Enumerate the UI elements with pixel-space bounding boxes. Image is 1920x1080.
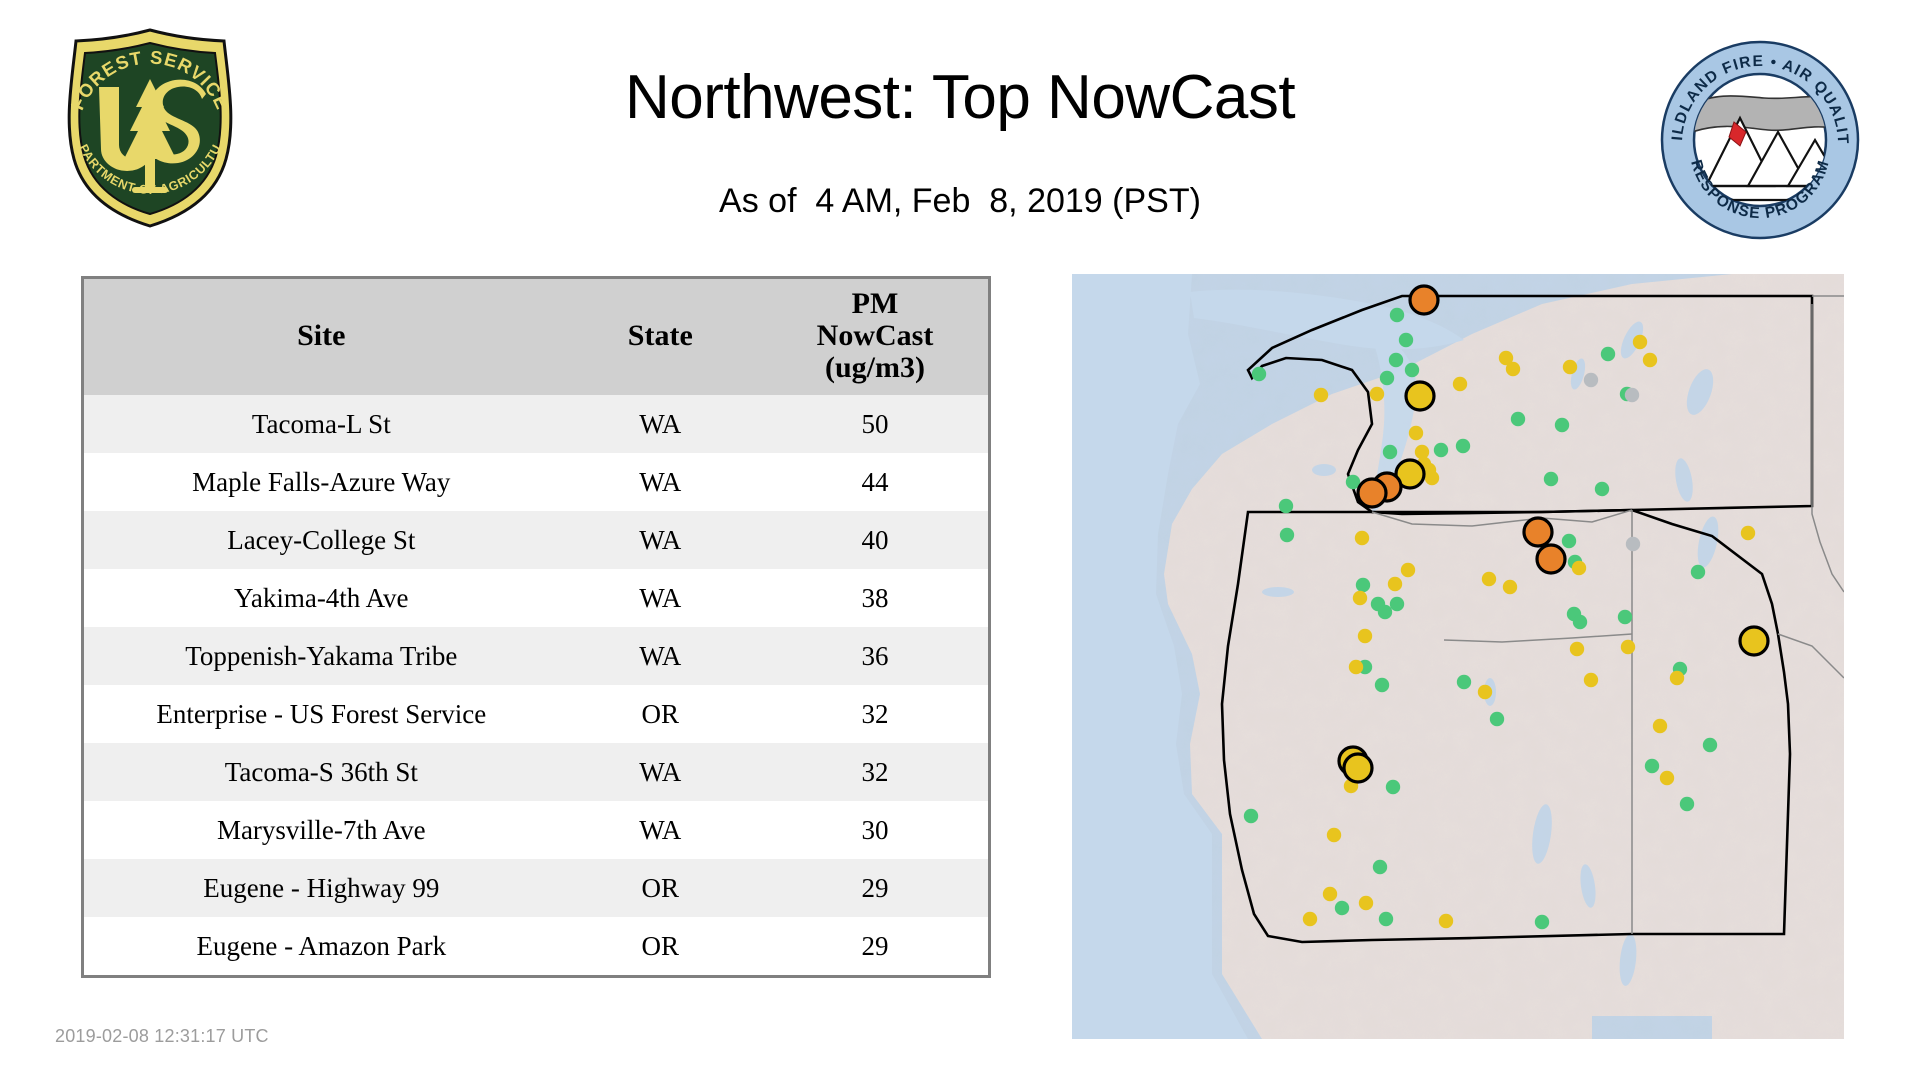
cell-state: WA bbox=[559, 569, 762, 627]
map-monitor-marker[interactable] bbox=[1490, 712, 1504, 726]
map-monitor-marker[interactable] bbox=[1478, 685, 1492, 699]
map-monitor-marker[interactable] bbox=[1353, 591, 1367, 605]
map-monitor-marker[interactable] bbox=[1378, 605, 1392, 619]
map-monitor-marker[interactable] bbox=[1323, 887, 1337, 901]
map-monitor-marker[interactable] bbox=[1389, 353, 1403, 367]
map-monitor-marker[interactable] bbox=[1280, 528, 1294, 542]
cell-site: Yakima-4th Ave bbox=[84, 569, 559, 627]
map-monitor-marker[interactable] bbox=[1511, 412, 1525, 426]
cell-state: WA bbox=[559, 453, 762, 511]
map-canvas: Maple Falls-Azure WayMarysville-7th AveT… bbox=[1072, 274, 1844, 1039]
map-monitor-marker[interactable] bbox=[1691, 565, 1705, 579]
map-monitor-marker[interactable] bbox=[1456, 439, 1470, 453]
table-row: Eugene - Highway 99OR29 bbox=[84, 859, 988, 917]
cell-state: WA bbox=[559, 395, 762, 453]
table-row: Tacoma-L StWA50 bbox=[84, 395, 988, 453]
map-monitor-marker[interactable] bbox=[1625, 388, 1639, 402]
map-monitor-marker[interactable] bbox=[1555, 418, 1569, 432]
map-monitor-marker[interactable] bbox=[1383, 445, 1397, 459]
table-row: Eugene - Amazon ParkOR29 bbox=[84, 917, 988, 975]
map-top-site-marker[interactable]: Enterprise - US Forest Service bbox=[1740, 627, 1768, 655]
table-header: Site State PM NowCast (ug/m3) bbox=[84, 279, 988, 395]
table-row: Maple Falls-Azure WayWA44 bbox=[84, 453, 988, 511]
table-header-row: Site State PM NowCast (ug/m3) bbox=[84, 279, 988, 395]
map-monitor-marker[interactable] bbox=[1633, 335, 1647, 349]
column-header-site: Site bbox=[84, 279, 559, 395]
map-monitor-marker[interactable] bbox=[1388, 577, 1402, 591]
map-monitor-marker[interactable] bbox=[1379, 912, 1393, 926]
map-monitor-marker[interactable] bbox=[1356, 578, 1370, 592]
cell-pm-nowcast: 50 bbox=[762, 395, 988, 453]
map-monitor-marker[interactable] bbox=[1595, 482, 1609, 496]
pm-header-line-3: (ug/m3) bbox=[762, 352, 988, 384]
cell-site: Maple Falls-Azure Way bbox=[84, 453, 559, 511]
map-monitor-marker[interactable] bbox=[1252, 367, 1266, 381]
map-monitor-marker[interactable] bbox=[1584, 673, 1598, 687]
cell-site: Toppenish-Yakama Tribe bbox=[84, 627, 559, 685]
table-row: Enterprise - US Forest ServiceOR32 bbox=[84, 685, 988, 743]
map-monitor-marker[interactable] bbox=[1535, 915, 1549, 929]
map-top-site-marker[interactable]: Marysville-7th Ave bbox=[1406, 382, 1434, 410]
cell-site: Tacoma-L St bbox=[84, 395, 559, 453]
map-monitor-marker[interactable] bbox=[1335, 901, 1349, 915]
nowcast-table-container: Site State PM NowCast (ug/m3) Tacoma-L S… bbox=[81, 276, 991, 978]
map-monitor-marker[interactable] bbox=[1401, 563, 1415, 577]
map-monitor-marker[interactable] bbox=[1390, 597, 1404, 611]
map-monitor-marker[interactable] bbox=[1380, 371, 1394, 385]
cell-site: Eugene - Highway 99 bbox=[84, 859, 559, 917]
nowcast-table: Site State PM NowCast (ug/m3) Tacoma-L S… bbox=[84, 279, 988, 975]
column-header-pm-nowcast: PM NowCast (ug/m3) bbox=[762, 279, 988, 395]
map-monitor-marker[interactable] bbox=[1279, 499, 1293, 513]
map-monitor-marker[interactable] bbox=[1626, 537, 1640, 551]
column-header-state: State bbox=[559, 279, 762, 395]
map-monitor-marker[interactable] bbox=[1358, 629, 1372, 643]
map-monitor-marker[interactable] bbox=[1506, 362, 1520, 376]
map-monitor-marker[interactable] bbox=[1370, 387, 1384, 401]
cell-pm-nowcast: 38 bbox=[762, 569, 988, 627]
wfaqrp-logo: WILDLAND FIRE • AIR QUALITY RESPONSE PRO… bbox=[1660, 40, 1860, 240]
cell-site: Marysville-7th Ave bbox=[84, 801, 559, 859]
map-monitor-marker[interactable] bbox=[1327, 828, 1341, 842]
map-monitor-marker[interactable] bbox=[1386, 780, 1400, 794]
map-monitor-marker[interactable] bbox=[1741, 526, 1755, 540]
cell-pm-nowcast: 29 bbox=[762, 859, 988, 917]
map-monitor-marker[interactable] bbox=[1645, 759, 1659, 773]
map-top-site-marker[interactable]: Toppenish-Yakama Tribe bbox=[1537, 545, 1565, 573]
map-monitor-marker[interactable] bbox=[1359, 896, 1373, 910]
page-subtitle: As of 4 AM, Feb 8, 2019 (PST) bbox=[460, 182, 1460, 221]
map-monitor-marker[interactable] bbox=[1399, 333, 1413, 347]
map-monitor-marker[interactable] bbox=[1703, 738, 1717, 752]
slide-root: FOREST SERVICE DEPARTMENT OF AGRICULTURE… bbox=[0, 0, 1920, 1080]
map-monitor-marker[interactable] bbox=[1621, 640, 1635, 654]
map-monitor-marker[interactable] bbox=[1409, 426, 1423, 440]
map-monitor-marker[interactable] bbox=[1434, 443, 1448, 457]
map-monitor-marker[interactable] bbox=[1503, 580, 1517, 594]
cell-site: Tacoma-S 36th St bbox=[84, 743, 559, 801]
map-monitor-marker[interactable] bbox=[1415, 445, 1429, 459]
us-forest-service-logo: FOREST SERVICE DEPARTMENT OF AGRICULTURE bbox=[52, 27, 248, 230]
cell-pm-nowcast: 36 bbox=[762, 627, 988, 685]
table-row: Lacey-College StWA40 bbox=[84, 511, 988, 569]
cell-pm-nowcast: 29 bbox=[762, 917, 988, 975]
map-monitor-marker[interactable] bbox=[1601, 347, 1615, 361]
map-monitor-marker[interactable] bbox=[1244, 809, 1258, 823]
cell-site: Eugene - Amazon Park bbox=[84, 917, 559, 975]
map-monitor-marker[interactable] bbox=[1453, 377, 1467, 391]
map-monitor-marker[interactable] bbox=[1375, 678, 1389, 692]
cell-state: WA bbox=[559, 511, 762, 569]
pnw-map[interactable]: Maple Falls-Azure WayMarysville-7th AveT… bbox=[1072, 274, 1844, 1039]
cell-pm-nowcast: 30 bbox=[762, 801, 988, 859]
map-monitor-marker[interactable] bbox=[1390, 308, 1404, 322]
map-monitor-marker[interactable] bbox=[1670, 671, 1684, 685]
cell-pm-nowcast: 32 bbox=[762, 743, 988, 801]
generated-timestamp: 2019-02-08 12:31:17 UTC bbox=[55, 1026, 269, 1047]
cell-state: OR bbox=[559, 859, 762, 917]
map-monitor-marker[interactable] bbox=[1355, 531, 1369, 545]
pm-header-line-2: NowCast bbox=[762, 320, 988, 352]
map-monitor-marker[interactable] bbox=[1570, 642, 1584, 656]
smoke-plume bbox=[1692, 96, 1832, 132]
cell-state: OR bbox=[559, 685, 762, 743]
map-top-site-marker[interactable]: Yakima-4th Ave bbox=[1524, 518, 1552, 546]
map-monitor-marker[interactable] bbox=[1439, 914, 1453, 928]
map-top-site-marker[interactable]: Maple Falls-Azure Way bbox=[1410, 286, 1438, 314]
cell-site: Lacey-College St bbox=[84, 511, 559, 569]
map-monitor-marker[interactable] bbox=[1349, 660, 1363, 674]
cell-site: Enterprise - US Forest Service bbox=[84, 685, 559, 743]
cell-state: OR bbox=[559, 917, 762, 975]
map-monitor-marker[interactable] bbox=[1618, 610, 1632, 624]
map-monitor-marker[interactable] bbox=[1653, 719, 1667, 733]
map-monitor-marker[interactable] bbox=[1373, 860, 1387, 874]
map-monitor-marker[interactable] bbox=[1314, 388, 1328, 402]
table-row: Yakima-4th AveWA38 bbox=[84, 569, 988, 627]
map-monitor-marker[interactable] bbox=[1643, 353, 1657, 367]
map-monitor-marker[interactable] bbox=[1680, 797, 1694, 811]
cell-pm-nowcast: 44 bbox=[762, 453, 988, 511]
map-monitor-marker[interactable] bbox=[1573, 615, 1587, 629]
map-monitor-marker[interactable] bbox=[1563, 360, 1577, 374]
map-monitor-marker[interactable] bbox=[1303, 912, 1317, 926]
pm-header-line-1: PM bbox=[762, 288, 988, 320]
table-row: Toppenish-Yakama TribeWA36 bbox=[84, 627, 988, 685]
map-monitor-marker[interactable] bbox=[1660, 771, 1674, 785]
map-monitor-marker[interactable] bbox=[1405, 363, 1419, 377]
map-top-site-marker[interactable]: Lacey-College St bbox=[1358, 479, 1386, 507]
map-monitor-marker[interactable] bbox=[1482, 572, 1496, 586]
table-body: Tacoma-L StWA50Maple Falls-Azure WayWA44… bbox=[84, 395, 988, 975]
map-monitor-marker[interactable] bbox=[1584, 373, 1598, 387]
map-monitor-marker[interactable] bbox=[1544, 472, 1558, 486]
map-monitor-marker[interactable] bbox=[1572, 561, 1586, 575]
map-top-site-marker[interactable]: Eugene - Amazon Park bbox=[1344, 754, 1372, 782]
table-row: Marysville-7th AveWA30 bbox=[84, 801, 988, 859]
cell-state: WA bbox=[559, 627, 762, 685]
cell-state: WA bbox=[559, 801, 762, 859]
map-monitor-marker[interactable] bbox=[1562, 534, 1576, 548]
map-monitor-marker[interactable] bbox=[1425, 471, 1439, 485]
map-monitor-marker[interactable] bbox=[1457, 675, 1471, 689]
cell-pm-nowcast: 32 bbox=[762, 685, 988, 743]
page-title: Northwest: Top NowCast bbox=[460, 62, 1460, 133]
cell-state: WA bbox=[559, 743, 762, 801]
table-row: Tacoma-S 36th StWA32 bbox=[84, 743, 988, 801]
cell-pm-nowcast: 40 bbox=[762, 511, 988, 569]
